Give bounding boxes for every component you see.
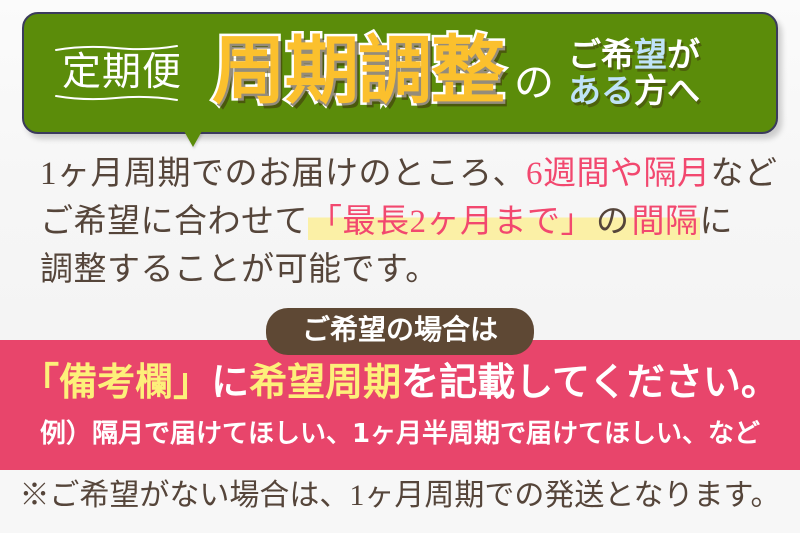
desc-l1-c: や [610, 156, 644, 192]
desc-l2-highlight-interval: 間隔 [631, 204, 700, 240]
header-wish-block: ご希望が ある方へ [568, 37, 700, 108]
wish-char-2: 希 [601, 35, 634, 74]
footer-note: ※ご希望がない場合は、1ヶ月周期での発送となります。 [0, 478, 800, 514]
description-line-3: 調整することが可能です。 [40, 246, 770, 294]
request-case-pill: ご希望の場合は [266, 308, 534, 355]
pink-headline-d: を記載してください。 [401, 360, 779, 404]
desc-l2-c: の [595, 204, 631, 240]
subscription-badge-label: 定期便 [62, 51, 182, 94]
pink-example-text: 例）隔月で届けてほしい、1ヶ月半周期で届けてほしい、など [0, 420, 800, 449]
header-title: 周期調整 [212, 34, 504, 108]
header-speech-bubble: 定期便 周期調整 の ご希望が ある方へ [22, 12, 778, 134]
subscription-badge: 定期便 [58, 44, 186, 102]
desc-l1-highlight-6weeks: 6週間 [526, 156, 610, 192]
description-line-2: ご希望に合わせて「最長2ヶ月まで」の間隔に [40, 198, 770, 246]
header-wish-line1: ご希望が [568, 37, 700, 73]
header-particle: の [514, 50, 554, 108]
wish2-char-1: あ [568, 71, 601, 110]
desc-l2-highlight-max2months: 「最長2ヶ月まで」 [308, 204, 595, 240]
description-line-1: 1ヶ月周期でのお届けのところ、6週間や隔月など [40, 150, 770, 198]
wish2-char-2: る [601, 71, 634, 110]
pink-headline-cycle: 希望周期 [249, 360, 401, 404]
promo-banner: 定期便 周期調整 の ご希望が ある方へ 1ヶ月周期でのお届けのところ、6週間や… [0, 0, 800, 533]
desc-l1-e: など [711, 156, 778, 192]
pink-headline-remarks: 「備考欄」 [21, 360, 211, 404]
pink-headline-b: に [211, 360, 249, 404]
pink-headline: 「備考欄」に希望周期を記載してください。 [0, 362, 800, 404]
wish2-char-4: へ [667, 71, 700, 110]
header-wish-line2: ある方へ [568, 73, 700, 109]
wish-char-3: 望 [634, 35, 667, 74]
desc-l2-e: に [700, 204, 734, 240]
wish-char-1: ご [568, 35, 601, 74]
wavy-line-top-icon [54, 44, 179, 52]
wish2-char-3: 方 [634, 71, 667, 110]
wavy-line-bottom-icon [54, 94, 179, 102]
description-paragraph: 1ヶ月周期でのお届けのところ、6週間や隔月など ご希望に合わせて「最長2ヶ月まで… [40, 150, 770, 294]
wish-char-4: が [667, 35, 700, 74]
desc-l1-highlight-bimonthly: 隔月 [644, 156, 711, 192]
desc-l2-a: ご希望に合わせて [40, 204, 308, 240]
desc-l1-a: 1ヶ月周期でのお届けのところ、 [40, 156, 526, 192]
